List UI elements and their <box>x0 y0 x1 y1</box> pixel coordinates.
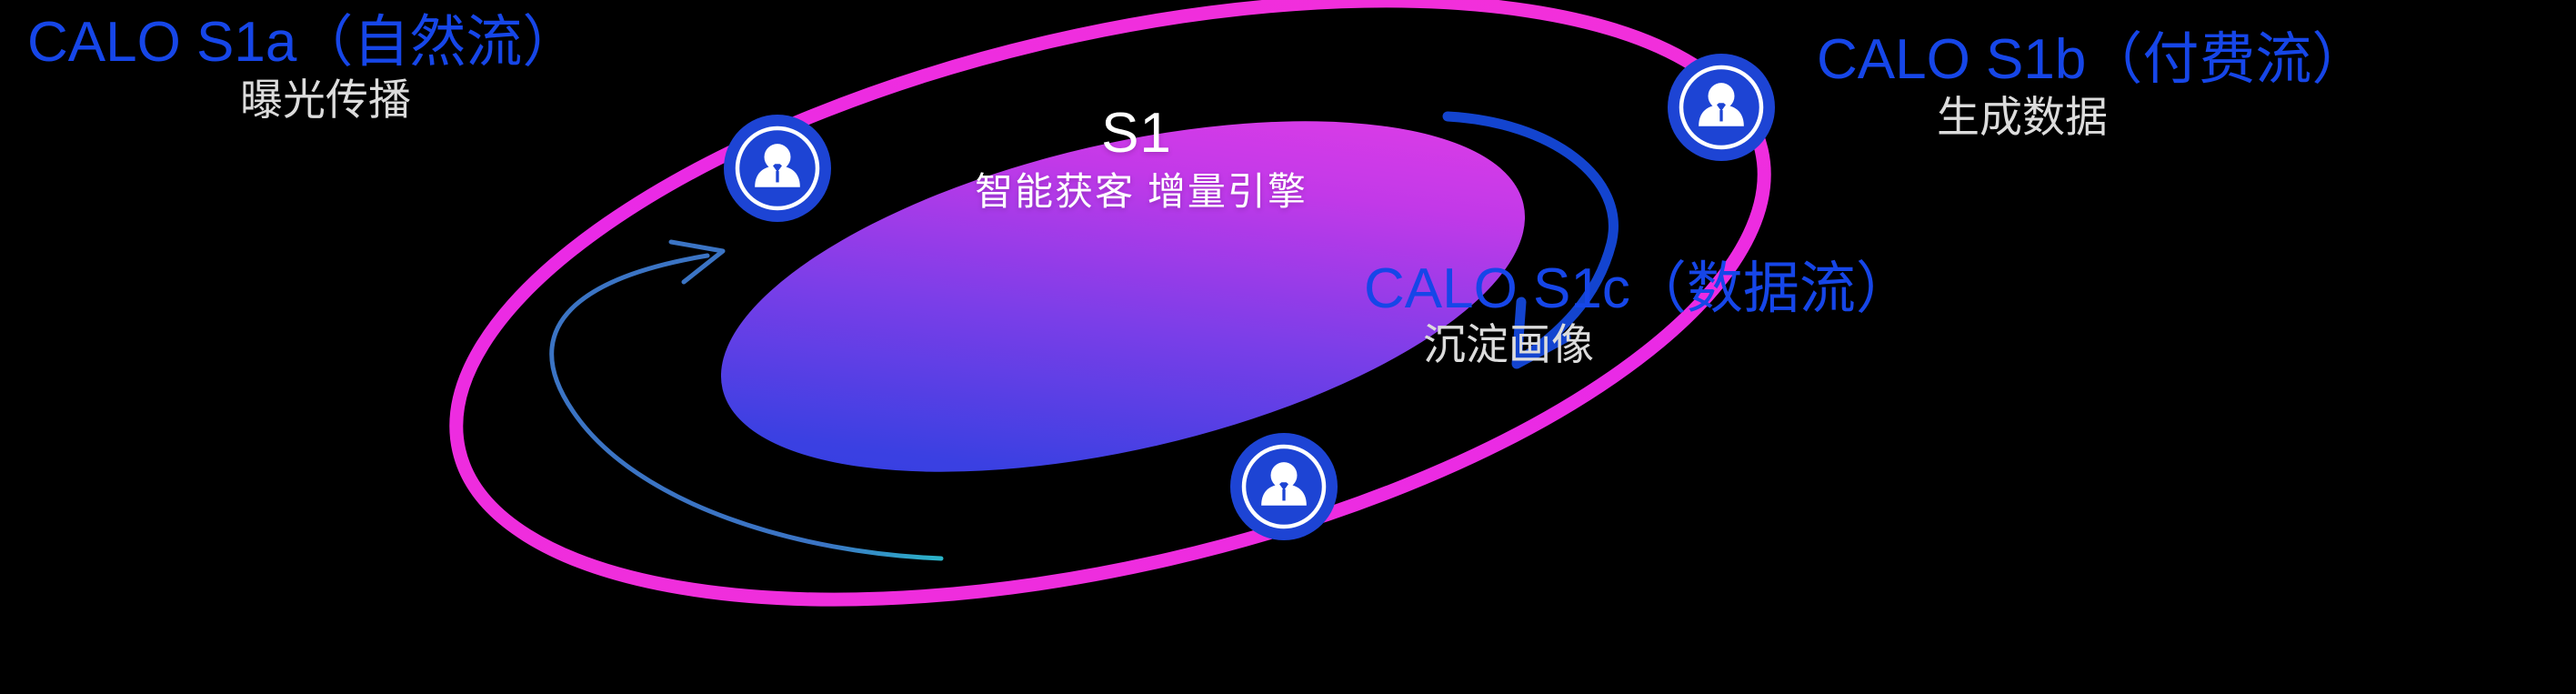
flow-s1b-title: CALO S1b（付费流） <box>1817 32 2368 88</box>
flow-s1c-subtitle: 沉淀画像 <box>1423 323 1594 366</box>
core-tagline: 智能获客 增量引擎 <box>868 173 1414 211</box>
node-s1a[interactable] <box>724 115 831 222</box>
flow-s1b-subtitle: 生成数据 <box>1937 96 2108 138</box>
core-title: S1 <box>1037 106 1237 162</box>
node-s1b[interactable] <box>1668 54 1775 161</box>
diagram-canvas: S1 智能获客 增量引擎 CALO S1a（自然流） 曝光传播 CALO S1b… <box>0 0 2576 694</box>
flow-s1c-title: CALO S1c（数据流） <box>1364 261 1912 317</box>
flow-s1a-title: CALO S1a（自然流） <box>27 15 578 71</box>
node-s1c[interactable] <box>1230 433 1338 540</box>
flow-s1a-subtitle: 曝光传播 <box>240 78 411 121</box>
